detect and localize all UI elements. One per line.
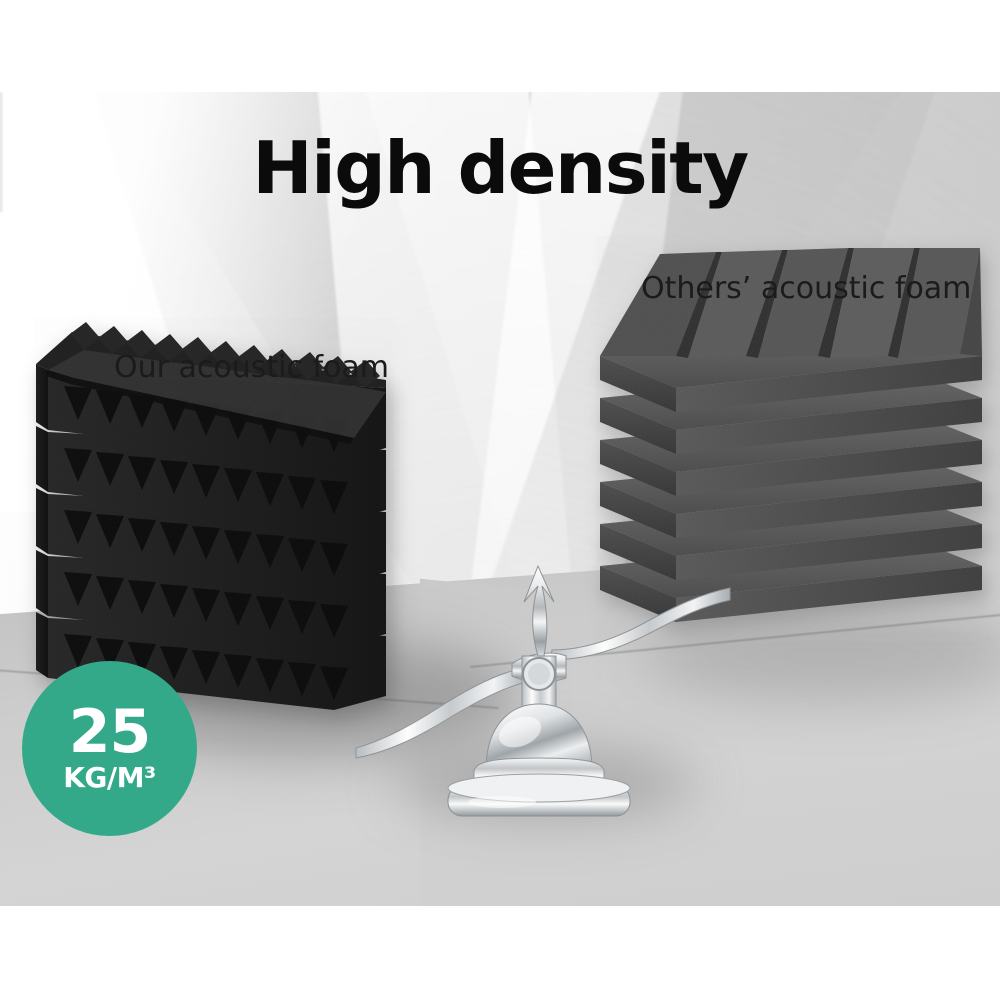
density-value: 25 xyxy=(69,704,151,761)
density-badge: 25 KG/M³ xyxy=(22,661,197,836)
product-banner: High density Our acoustic foam Others’ a… xyxy=(0,0,1000,1000)
density-unit: KG/M³ xyxy=(63,763,156,792)
balance-scale xyxy=(352,560,732,850)
label-others-foam: Others’ acoustic foam xyxy=(641,271,971,306)
top-white-band xyxy=(0,0,1000,92)
bottom-white-band xyxy=(0,906,1000,1000)
label-our-foam: Our acoustic foam xyxy=(114,350,389,385)
page-title: High density xyxy=(0,132,1000,204)
